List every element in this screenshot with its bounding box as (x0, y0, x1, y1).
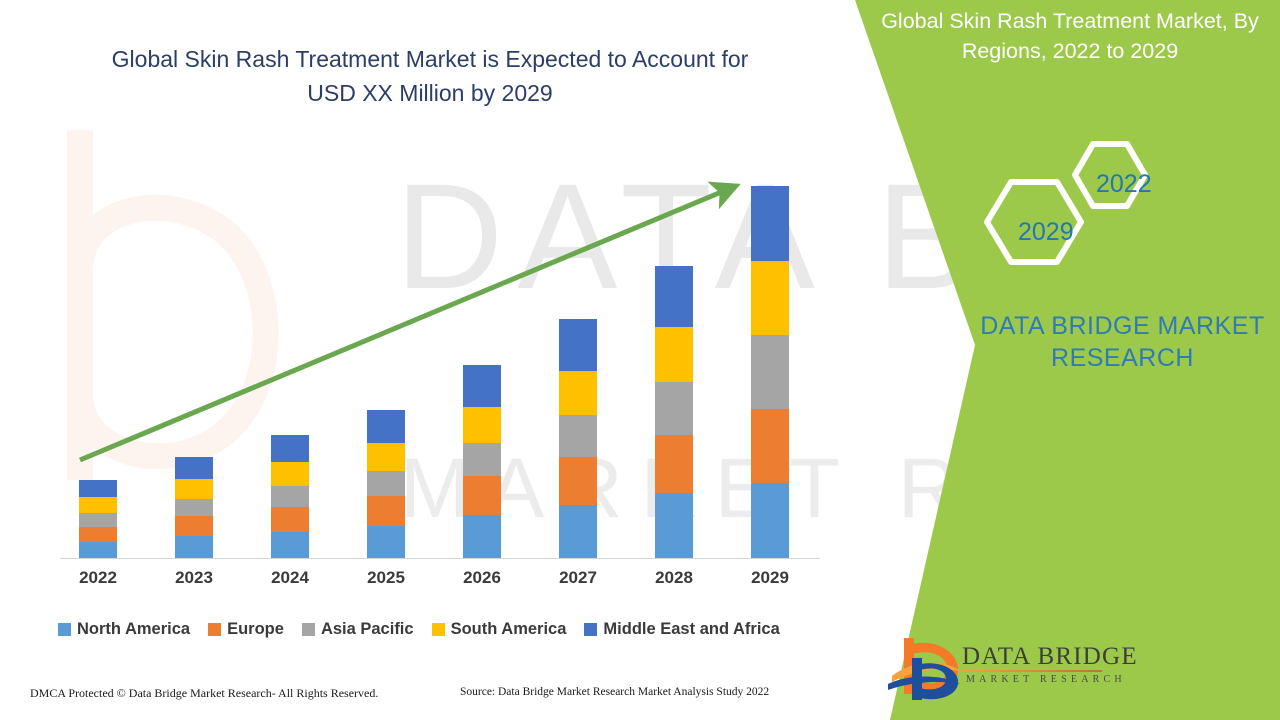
hexagon-group (975, 130, 1185, 280)
bar-segment (79, 542, 117, 558)
bar-segment (559, 457, 597, 505)
legend-label: North America (77, 620, 190, 639)
legend-item-europe[interactable]: Europe (208, 620, 284, 639)
legend-swatch-icon (208, 623, 221, 636)
bar-segment (79, 480, 117, 497)
legend-item-middle-east-and-africa[interactable]: Middle East and Africa (584, 620, 779, 639)
bar-segment (175, 457, 213, 479)
legend-swatch-icon (584, 623, 597, 636)
logo-name-top: DATA BRIDGE (962, 643, 1138, 671)
bar-2025 (367, 410, 405, 558)
bar-2022 (79, 480, 117, 558)
x-axis-label-2028: 2028 (639, 568, 709, 588)
bar-2024 (271, 435, 309, 558)
bar-segment (367, 471, 405, 496)
bar-segment (559, 415, 597, 457)
legend-label: Europe (227, 620, 284, 639)
chart-legend: North AmericaEuropeAsia PacificSouth Ame… (58, 617, 848, 641)
bar-segment (655, 266, 693, 327)
bar-segment (79, 513, 117, 527)
bar-segment (463, 407, 501, 443)
bar-2023 (175, 457, 213, 558)
bar-segment (655, 435, 693, 493)
bar-segment (367, 410, 405, 443)
hexagon-label-2022: 2022 (1096, 170, 1152, 199)
bar-segment (559, 505, 597, 558)
bar-segment (463, 365, 501, 407)
x-axis-label-2025: 2025 (351, 568, 421, 588)
x-axis-label-2024: 2024 (255, 568, 325, 588)
legend-item-south-america[interactable]: South America (432, 620, 567, 639)
bar-segment (751, 409, 789, 483)
legend-item-north-america[interactable]: North America (58, 620, 190, 639)
x-axis-label-2022: 2022 (63, 568, 133, 588)
bar-segment (271, 435, 309, 462)
bar-segment (463, 443, 501, 476)
bar-segment (751, 261, 789, 335)
bar-segment (559, 319, 597, 370)
footer-source: Source: Data Bridge Market Research Mark… (460, 686, 769, 698)
hexagon-label-2029: 2029 (1018, 218, 1074, 247)
bar-segment (367, 526, 405, 558)
legend-label: South America (451, 620, 567, 639)
bar-2028 (655, 266, 693, 558)
legend-label: Middle East and Africa (603, 620, 779, 639)
bar-segment (175, 479, 213, 499)
legend-label: Asia Pacific (321, 620, 414, 639)
logo-divider-rule (962, 670, 1102, 672)
x-axis-label-2026: 2026 (447, 568, 517, 588)
bar-segment (463, 476, 501, 515)
logo-name-bottom: MARKET RESEARCH (966, 674, 1126, 685)
bar-segment (655, 493, 693, 558)
bar-segment (271, 507, 309, 532)
bar-segment (175, 516, 213, 536)
bar-segment (559, 371, 597, 415)
bar-series-layer (0, 0, 860, 558)
bar-segment (79, 527, 117, 542)
bar-segment (367, 443, 405, 471)
bar-segment (367, 496, 405, 526)
bar-segment (271, 486, 309, 507)
bar-segment (271, 462, 309, 486)
bar-segment (271, 532, 309, 558)
brand-name-text: DATA BRIDGE MARKET RESEARCH (975, 310, 1270, 374)
legend-swatch-icon (432, 623, 445, 636)
x-axis-label-2027: 2027 (543, 568, 613, 588)
bar-segment (463, 515, 501, 558)
slide-canvas: DATA BRIDGE MARKET RESEARCH Global Skin … (0, 0, 1280, 720)
x-axis-label-2023: 2023 (159, 568, 229, 588)
bar-segment (655, 327, 693, 381)
x-axis-labels: 20222023202420252026202720282029 (0, 568, 860, 598)
legend-item-asia-pacific[interactable]: Asia Pacific (302, 620, 414, 639)
bar-segment (79, 497, 117, 513)
bar-segment (655, 382, 693, 435)
bar-segment (175, 499, 213, 516)
bar-segment (751, 186, 789, 261)
bar-segment (751, 483, 789, 558)
legend-swatch-icon (302, 623, 315, 636)
legend-swatch-icon (58, 623, 71, 636)
bar-2027 (559, 319, 597, 558)
bar-2026 (463, 364, 501, 558)
x-axis-label-2029: 2029 (735, 568, 805, 588)
footer-copyright: DMCA Protected © Data Bridge Market Rese… (30, 686, 378, 701)
bar-2029 (751, 186, 789, 558)
bar-segment (751, 335, 789, 408)
x-axis-line (60, 558, 820, 559)
panel-title: Global Skin Rash Treatment Market, By Re… (868, 6, 1272, 66)
bar-segment (175, 536, 213, 558)
